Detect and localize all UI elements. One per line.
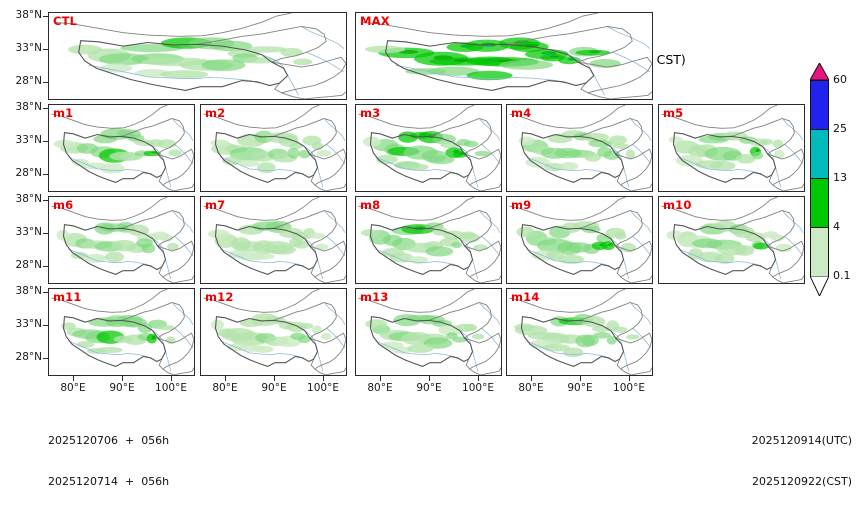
x-tick-label: 100°E <box>148 382 194 394</box>
colorbar-tick-label: 4 <box>833 220 840 233</box>
map-panel-m2[interactable]: m2 <box>200 104 347 192</box>
map-panel-m6[interactable]: m6 <box>48 196 195 284</box>
x-tick-mark <box>73 376 74 381</box>
map-panel-m11[interactable]: m11 <box>48 288 195 376</box>
y-tick-mark <box>43 16 48 17</box>
x-tick-label: 80°E <box>357 382 403 394</box>
colorbar-under-arrow <box>810 276 829 293</box>
map-panel-m10[interactable]: m10 <box>658 196 805 284</box>
y-tick-mark <box>43 82 48 83</box>
y-tick-label: 33°N <box>0 134 42 146</box>
panel-label: m1 <box>53 106 73 120</box>
x-tick-label: 90°E <box>557 382 603 394</box>
x-tick-mark <box>629 376 630 381</box>
colorbar-tick-label: 25 <box>833 122 847 135</box>
y-tick-mark <box>43 358 48 359</box>
colorbar-tick-label: 60 <box>833 73 847 86</box>
colorbar-tick-label: 13 <box>833 171 847 184</box>
panel-label: m6 <box>53 198 73 212</box>
valid-time-utc: 2025120914(UTC) <box>752 434 852 448</box>
map-panel-m5[interactable]: m5 <box>658 104 805 192</box>
colorbar-divider <box>810 178 829 179</box>
colorbar-band <box>810 178 829 227</box>
panel-label: m3 <box>360 106 380 120</box>
map-panel-ctl[interactable]: CTL <box>48 12 347 100</box>
colorbar-divider <box>810 227 829 228</box>
x-tick-mark <box>323 376 324 381</box>
panel-label: m4 <box>511 106 531 120</box>
y-tick-label: 38°N <box>0 9 42 21</box>
y-tick-mark <box>43 292 48 293</box>
x-tick-label: 100°E <box>455 382 501 394</box>
y-tick-label: 28°N <box>0 75 42 87</box>
y-tick-label: 38°N <box>0 101 42 113</box>
map-panel-m4[interactable]: m4 <box>506 104 653 192</box>
x-tick-mark <box>531 376 532 381</box>
x-tick-mark <box>274 376 275 381</box>
x-tick-mark <box>429 376 430 381</box>
map-panel-m1[interactable]: m1 <box>48 104 195 192</box>
panel-label: m11 <box>53 290 82 304</box>
y-tick-mark <box>43 108 48 109</box>
panel-label: CTL <box>53 14 77 28</box>
colorbar-band <box>810 129 829 178</box>
panel-label: m8 <box>360 198 380 212</box>
x-tick-mark <box>171 376 172 381</box>
colorbar-over-arrow <box>810 63 829 80</box>
y-tick-mark <box>43 174 48 175</box>
map-panel-m3[interactable]: m3 <box>355 104 502 192</box>
map-canvas <box>49 13 346 99</box>
x-tick-mark <box>225 376 226 381</box>
valid-time-cst: 2025120922(CST) <box>752 475 852 489</box>
map-panel-m14[interactable]: m14 <box>506 288 653 376</box>
colorbar-band <box>810 227 829 276</box>
map-panel-max[interactable]: MAX <box>355 12 653 100</box>
panel-label: m7 <box>205 198 225 212</box>
y-tick-label: 38°N <box>0 285 42 297</box>
panel-label: m13 <box>360 290 389 304</box>
x-tick-label: 90°E <box>406 382 452 394</box>
map-canvas <box>356 13 652 99</box>
y-tick-label: 28°N <box>0 351 42 363</box>
y-tick-mark <box>43 49 48 50</box>
panel-label: m12 <box>205 290 234 304</box>
x-tick-mark <box>478 376 479 381</box>
x-tick-label: 90°E <box>99 382 145 394</box>
colorbar-divider <box>810 80 829 81</box>
y-tick-label: 33°N <box>0 42 42 54</box>
valid-time-annotation: 2025120914(UTC) 2025120922(CST) <box>752 407 852 515</box>
init-time-line-1: 2025120706 + 056h <box>48 434 169 448</box>
panel-label: MAX <box>360 14 390 28</box>
map-panel-m8[interactable]: m8 <box>355 196 502 284</box>
x-tick-label: 80°E <box>202 382 248 394</box>
x-tick-label: 90°E <box>251 382 297 394</box>
y-tick-mark <box>43 233 48 234</box>
y-tick-mark <box>43 325 48 326</box>
colorbar-band <box>810 80 829 129</box>
y-tick-label: 28°N <box>0 259 42 271</box>
colorbar-divider <box>810 129 829 130</box>
panel-label: m5 <box>663 106 683 120</box>
panel-label: m2 <box>205 106 225 120</box>
x-tick-label: 100°E <box>606 382 652 394</box>
map-panel-m7[interactable]: m7 <box>200 196 347 284</box>
y-tick-mark <box>43 200 48 201</box>
y-tick-label: 38°N <box>0 193 42 205</box>
x-tick-label: 80°E <box>508 382 554 394</box>
panel-label: m10 <box>663 198 692 212</box>
x-tick-mark <box>380 376 381 381</box>
colorbar-tick-label: 0.1 <box>833 269 851 282</box>
y-tick-label: 33°N <box>0 226 42 238</box>
init-time-annotation: 2025120706 + 056h 2025120714 + 056h <box>48 407 169 515</box>
x-tick-label: 80°E <box>50 382 96 394</box>
x-tick-mark <box>122 376 123 381</box>
y-tick-mark <box>43 141 48 142</box>
init-time-line-2: 2025120714 + 056h <box>48 475 169 489</box>
y-tick-mark <box>43 266 48 267</box>
panel-label: m9 <box>511 198 531 212</box>
map-panel-m13[interactable]: m13 <box>355 288 502 376</box>
y-tick-label: 33°N <box>0 318 42 330</box>
map-panel-m12[interactable]: m12 <box>200 288 347 376</box>
x-tick-mark <box>580 376 581 381</box>
x-tick-label: 100°E <box>300 382 346 394</box>
map-panel-m9[interactable]: m9 <box>506 196 653 284</box>
y-tick-label: 28°N <box>0 167 42 179</box>
figure-root: Xizang rain6 (2025120916-2025120922 CST)… <box>0 0 860 448</box>
panel-label: m14 <box>511 290 540 304</box>
